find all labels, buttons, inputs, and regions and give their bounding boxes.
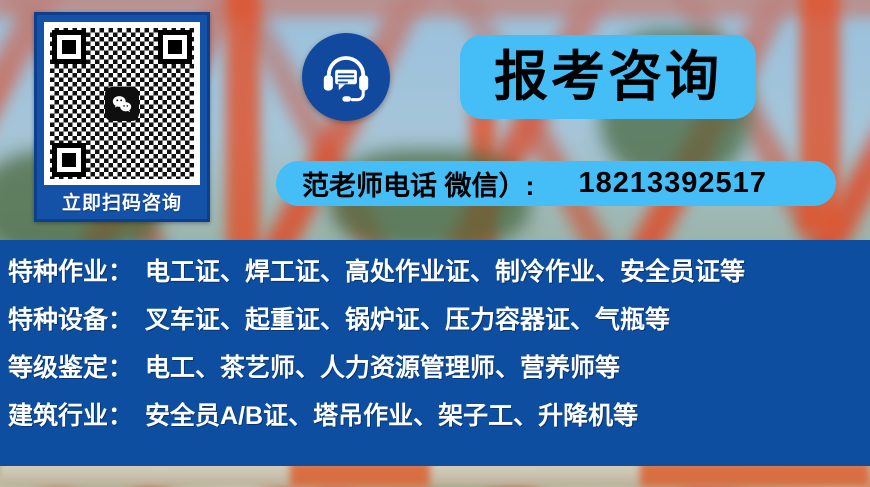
qr-finder-top-right <box>158 30 192 64</box>
list-item: 建筑行业： 安全员A/B证、塔吊作业、架子工、升降机等 <box>8 396 870 444</box>
qr-code-modules <box>50 28 194 179</box>
category-items: 安全员A/B证、塔吊作业、架子工、升降机等 <box>145 396 638 432</box>
qr-code-image[interactable] <box>44 22 200 185</box>
promo-poster: 立即扫码咨询 报考咨询 范老师电话 微信）: 18213392517 特种作业：… <box>0 0 870 487</box>
headset-support-icon <box>302 33 390 121</box>
category-items: 电工、茶艺师、人力资源管理师、营养师等 <box>145 348 620 384</box>
category-name: 等级鉴定： <box>8 348 133 384</box>
category-name: 特种作业： <box>8 252 133 288</box>
background-crane-beam-left <box>226 0 260 280</box>
page-title: 报考咨询 <box>460 35 756 119</box>
qr-code-card[interactable]: 立即扫码咨询 <box>34 12 210 222</box>
category-name: 建筑行业： <box>8 396 133 432</box>
qr-finder-top-left <box>52 30 86 64</box>
list-item: 特种设备： 叉车证、起重证、锅炉证、压力容器证、气瓶等 <box>8 300 870 348</box>
page-title-text: 报考咨询 <box>494 50 722 104</box>
category-name: 特种设备： <box>8 300 133 336</box>
wechat-icon <box>105 87 139 121</box>
category-items: 电工证、焊工证、高处作业证、制冷作业、安全员证等 <box>145 252 745 288</box>
list-item: 特种作业： 电工证、焊工证、高处作业证、制冷作业、安全员证等 <box>8 252 870 300</box>
category-items: 叉车证、起重证、锅炉证、压力容器证、气瓶等 <box>145 300 670 336</box>
list-item: 等级鉴定： 电工、茶艺师、人力资源管理师、营养师等 <box>8 348 870 396</box>
category-list-panel: 特种作业： 电工证、焊工证、高处作业证、制冷作业、安全员证等 特种设备： 叉车证… <box>0 240 870 466</box>
contact-phone-number[interactable]: 18213392517 <box>579 167 767 200</box>
contact-bar[interactable]: 范老师电话 微信）: 18213392517 <box>276 161 836 206</box>
contact-label: 范老师电话 微信）: <box>302 164 535 203</box>
qr-finder-bottom-left <box>52 143 86 177</box>
